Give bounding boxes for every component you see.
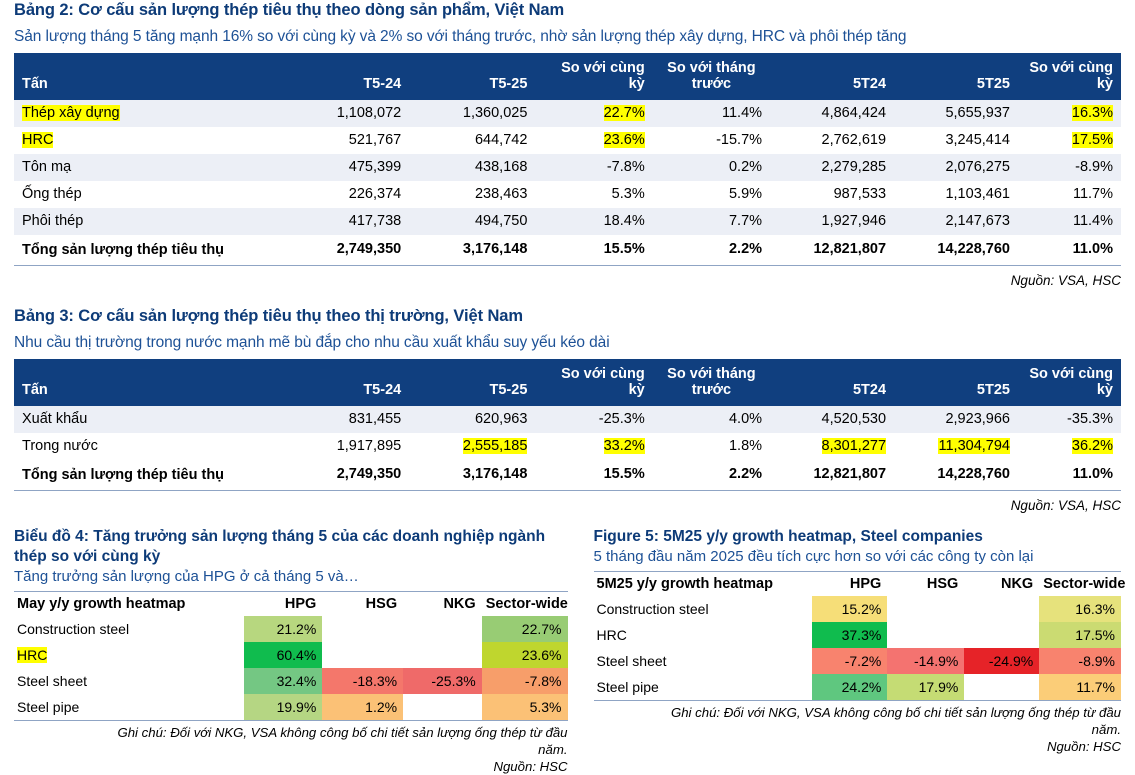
figure5-heatmap-title: 5M25 y/y growth heatmap [594,572,813,597]
table-cell: 1,360,025 [409,100,535,127]
table-cell: 1.8% [653,433,770,460]
total-cell: 2,749,350 [283,460,409,491]
table-cell: 494,750 [409,208,535,235]
figure4-col-sector: Sector-wide [482,592,568,617]
figure4-col-nkg: NKG [403,592,482,617]
figure4-heatmap: May y/y growth heatmap HPG HSG NKG Secto… [14,591,568,721]
table-cell: 33.2% [535,433,652,460]
table2-subtitle: Sản lượng tháng 5 tăng mạnh 16% so với c… [14,26,1121,47]
table-cell: 417,738 [283,208,409,235]
table-cell: 4,864,424 [770,100,894,127]
figure4-header-row: May y/y growth heatmap HPG HSG NKG Secto… [14,592,568,617]
table-cell: 475,399 [283,154,409,181]
table3-source: Nguồn: VSA, HSC [14,491,1121,513]
table2-col-yoy-ytd: So với cùng kỳ [1018,53,1121,100]
heatmaps-row: Biểu đồ 4: Tăng trưởng sản lượng tháng 5… [14,527,1121,775]
figure4-subtitle: Tăng trưởng sản lượng của HPG ở cả tháng… [14,567,568,587]
figure5-header-row: 5M25 y/y growth heatmap HPG HSG NKG Sect… [594,572,1122,597]
heatmap-row-label: Construction steel [594,596,813,622]
table3-col-yoy-month: So với cùng kỳ [535,359,652,406]
table-cell: 4,520,530 [770,406,894,433]
heatmap-cell: -7.8% [482,668,568,694]
heatmap-cell [964,622,1039,648]
table-cell: 22.7% [535,100,652,127]
table3-col-5t24: 5T24 [770,359,894,406]
table-cell: 5,655,937 [894,100,1018,127]
heatmap-cell: 1.2% [322,694,403,721]
table-cell: 620,963 [409,406,535,433]
figure4-heatmap-title: May y/y growth heatmap [14,592,244,617]
total-cell: 14,228,760 [894,460,1018,491]
table3-title: Bảng 3: Cơ cấu sản lượng thép tiêu thụ t… [14,306,1121,327]
figure5-col-nkg: NKG [964,572,1039,597]
table-cell: 1,927,946 [770,208,894,235]
table-cell: 2,147,673 [894,208,1018,235]
report-page: Bảng 2: Cơ cấu sản lượng thép tiêu thụ t… [0,0,1135,770]
figure5-col-sector: Sector-wide [1039,572,1121,597]
row-label: Phôi thép [14,208,283,235]
table-cell: 226,374 [283,181,409,208]
table-cell: 7.7% [653,208,770,235]
row-label: Tôn mạ [14,154,283,181]
heatmap-cell [403,616,482,642]
heatmap-cell [322,642,403,668]
heatmap-cell: 21.2% [244,616,323,642]
table3-body: Xuất khẩu831,455620,963-25.3%4.0%4,520,5… [14,406,1121,491]
figure4-body: Construction steel21.2%22.7%HRC60.4%23.6… [14,616,568,721]
heatmap-row: Steel sheet32.4%-18.3%-25.3%-7.8% [14,668,568,694]
total-label: Tổng sản lượng thép tiêu thụ [14,235,283,266]
table-cell: 2,555,185 [409,433,535,460]
figure4-section: Biểu đồ 4: Tăng trưởng sản lượng tháng 5… [14,527,568,775]
table-cell: 644,742 [409,127,535,154]
heatmap-row: Construction steel21.2%22.7% [14,616,568,642]
heatmap-cell: 11.7% [1039,674,1121,701]
heatmap-row: Steel sheet-7.2%-14.9%-24.9%-8.9% [594,648,1122,674]
figure5-section: Figure 5: 5M25 y/y growth heatmap, Steel… [568,527,1122,775]
figure5-title: Figure 5: 5M25 y/y growth heatmap, Steel… [594,527,1122,547]
heatmap-cell: 60.4% [244,642,323,668]
table2-title: Bảng 2: Cơ cấu sản lượng thép tiêu thụ t… [14,0,1121,21]
figure4-note-source: Nguồn: HSC [14,758,568,775]
table3-col-t5-25: T5-25 [409,359,535,406]
heatmap-cell: 5.3% [482,694,568,721]
table-cell: -15.7% [653,127,770,154]
table3-col-unit: Tấn [14,359,283,406]
table-cell: 11.4% [1018,208,1121,235]
heatmap-cell: -24.9% [964,648,1039,674]
table2-col-t5-25: T5-25 [409,53,535,100]
table3-col-5t25: 5T25 [894,359,1018,406]
figure5-note-line2: năm. [594,721,1122,738]
table-row: Xuất khẩu831,455620,963-25.3%4.0%4,520,5… [14,406,1121,433]
heatmap-row-label: HRC [594,622,813,648]
heatmap-cell: 37.3% [812,622,887,648]
figure4-col-hsg: HSG [322,592,403,617]
table-cell: 1,108,072 [283,100,409,127]
figure5-note-line1: Ghi chú: Đối với NKG, VSA không công bố … [594,704,1122,721]
heatmap-cell [322,616,403,642]
table-row: HRC521,767644,74223.6%-15.7%2,762,6193,2… [14,127,1121,154]
heatmap-cell: 15.2% [812,596,887,622]
heatmap-row: Steel pipe24.2%17.9%11.7% [594,674,1122,701]
table-cell: 11.4% [653,100,770,127]
figure5-col-hsg: HSG [887,572,964,597]
table-total-row: Tổng sản lượng thép tiêu thụ2,749,3503,1… [14,235,1121,266]
table-cell: 23.6% [535,127,652,154]
table-total-row: Tổng sản lượng thép tiêu thụ2,749,3503,1… [14,460,1121,491]
heatmap-cell: -25.3% [403,668,482,694]
row-label: Xuất khẩu [14,406,283,433]
table3-subtitle: Nhu cầu thị trường trong nước mạnh mẽ bù… [14,332,1121,353]
row-label: Ống thép [14,181,283,208]
total-cell: 12,821,807 [770,460,894,491]
heatmap-cell [964,674,1039,701]
table3-col-yoy-ytd: So với cùng kỳ [1018,359,1121,406]
heatmap-cell: -7.2% [812,648,887,674]
table-cell: 521,767 [283,127,409,154]
table-cell: -25.3% [535,406,652,433]
table-cell: 11.7% [1018,181,1121,208]
row-label: Thép xây dựng [14,100,283,127]
table-row: Tôn mạ475,399438,168-7.8%0.2%2,279,2852,… [14,154,1121,181]
heatmap-row-label: Steel pipe [14,694,244,721]
table-cell: 16.3% [1018,100,1121,127]
total-cell: 14,228,760 [894,235,1018,266]
total-cell: 3,176,148 [409,235,535,266]
table-cell: -8.9% [1018,154,1121,181]
figure4-note-line1: Ghi chú: Đối với NKG, VSA không công bố … [14,724,568,741]
table-cell: 831,455 [283,406,409,433]
heatmap-row: HRC37.3%17.5% [594,622,1122,648]
table2-header-row: Tấn T5-24 T5-25 So với cùng kỳ So với th… [14,53,1121,100]
figure4-col-hpg: HPG [244,592,323,617]
total-cell: 12,821,807 [770,235,894,266]
heatmap-row-label: Steel sheet [594,648,813,674]
heatmap-cell: 22.7% [482,616,568,642]
figure5-note-source: Nguồn: HSC [594,738,1122,755]
heatmap-cell: 19.9% [244,694,323,721]
heatmap-cell [403,694,482,721]
heatmap-cell: -8.9% [1039,648,1121,674]
table3-col-mom: So với tháng trước [653,359,770,406]
table-cell: -7.8% [535,154,652,181]
table-cell: 4.0% [653,406,770,433]
heatmap-cell: 16.3% [1039,596,1121,622]
table-cell: 17.5% [1018,127,1121,154]
total-cell: 3,176,148 [409,460,535,491]
heatmap-cell: -18.3% [322,668,403,694]
table-row: Phôi thép417,738494,75018.4%7.7%1,927,94… [14,208,1121,235]
table-cell: 5.9% [653,181,770,208]
table3: Tấn T5-24 T5-25 So với cùng kỳ So với th… [14,359,1121,491]
heatmap-cell: -14.9% [887,648,964,674]
heatmap-cell [964,596,1039,622]
heatmap-cell [887,596,964,622]
table-cell: 1,917,895 [283,433,409,460]
table-cell: 5.3% [535,181,652,208]
table2-col-mom: So với tháng trước [653,53,770,100]
heatmap-row: Construction steel15.2%16.3% [594,596,1122,622]
table-row: Trong nước1,917,8952,555,18533.2%1.8%8,3… [14,433,1121,460]
total-cell: 11.0% [1018,460,1121,491]
heatmap-cell [887,622,964,648]
table-cell: 2,076,275 [894,154,1018,181]
heatmap-cell: 23.6% [482,642,568,668]
table-cell: 2,923,966 [894,406,1018,433]
figure5-note: Ghi chú: Đối với NKG, VSA không công bố … [594,701,1122,755]
table-cell: -35.3% [1018,406,1121,433]
heatmap-row-label: Steel pipe [594,674,813,701]
row-label: Trong nước [14,433,283,460]
table2-source: Nguồn: VSA, HSC [14,266,1121,288]
table-cell: 438,168 [409,154,535,181]
table-cell: 2,762,619 [770,127,894,154]
figure5-heatmap: 5M25 y/y growth heatmap HPG HSG NKG Sect… [594,571,1122,701]
table-row: Ống thép226,374238,4635.3%5.9%987,5331,1… [14,181,1121,208]
total-cell: 15.5% [535,235,652,266]
heatmap-cell: 32.4% [244,668,323,694]
heatmap-row-label: Steel sheet [14,668,244,694]
heatmap-row: Steel pipe19.9%1.2%5.3% [14,694,568,721]
table-cell: 36.2% [1018,433,1121,460]
table3-header-row: Tấn T5-24 T5-25 So với cùng kỳ So với th… [14,359,1121,406]
table-row: Thép xây dựng1,108,0721,360,02522.7%11.4… [14,100,1121,127]
table-cell: 11,304,794 [894,433,1018,460]
figure4-note-line2: năm. [14,741,568,758]
figure4-note: Ghi chú: Đối với NKG, VSA không công bố … [14,721,568,775]
table3-section: Bảng 3: Cơ cấu sản lượng thép tiêu thụ t… [14,306,1121,513]
figure5-col-hpg: HPG [812,572,887,597]
heatmap-cell: 17.9% [887,674,964,701]
figure4-title: Biểu đồ 4: Tăng trưởng sản lượng tháng 5… [14,527,568,567]
table-cell: 238,463 [409,181,535,208]
table2: Tấn T5-24 T5-25 So với cùng kỳ So với th… [14,53,1121,266]
table-cell: 1,103,461 [894,181,1018,208]
heatmap-row-label: Construction steel [14,616,244,642]
table-cell: 2,279,285 [770,154,894,181]
row-label: HRC [14,127,283,154]
total-cell: 11.0% [1018,235,1121,266]
total-cell: 2,749,350 [283,235,409,266]
table2-col-5t24: 5T24 [770,53,894,100]
table-cell: 987,533 [770,181,894,208]
table2-col-t5-24: T5-24 [283,53,409,100]
table2-section: Bảng 2: Cơ cấu sản lượng thép tiêu thụ t… [14,0,1121,288]
total-cell: 15.5% [535,460,652,491]
table-cell: 18.4% [535,208,652,235]
heatmap-cell: 17.5% [1039,622,1121,648]
table2-col-5t25: 5T25 [894,53,1018,100]
total-cell: 2.2% [653,460,770,491]
table-cell: 0.2% [653,154,770,181]
table2-col-yoy-month: So với cùng kỳ [535,53,652,100]
heatmap-cell: 24.2% [812,674,887,701]
heatmap-cell [403,642,482,668]
heatmap-row-label: HRC [14,642,244,668]
figure5-body: Construction steel15.2%16.3%HRC37.3%17.5… [594,596,1122,701]
table-cell: 3,245,414 [894,127,1018,154]
total-cell: 2.2% [653,235,770,266]
table2-body: Thép xây dựng1,108,0721,360,02522.7%11.4… [14,100,1121,266]
table2-col-unit: Tấn [14,53,283,100]
table3-col-t5-24: T5-24 [283,359,409,406]
figure5-subtitle: 5 tháng đầu năm 2025 đều tích cực hơn so… [594,547,1122,567]
heatmap-row: HRC60.4%23.6% [14,642,568,668]
total-label: Tổng sản lượng thép tiêu thụ [14,460,283,491]
table-cell: 8,301,277 [770,433,894,460]
